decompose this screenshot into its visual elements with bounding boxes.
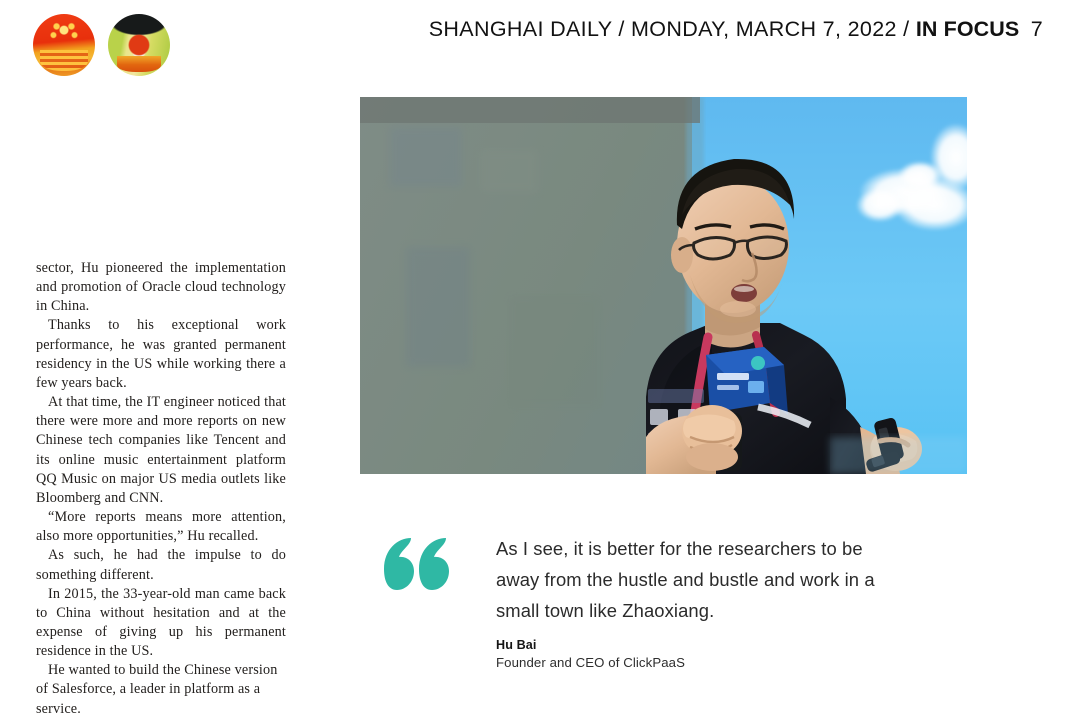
article-body-column: sector, Hu pioneered the implementation … [36, 259, 286, 719]
section-name: IN FOCUS [916, 17, 1020, 41]
cppcc-emblem-icon [108, 14, 170, 76]
masthead-separator-1: / [618, 17, 624, 41]
hand-holding-microphone [682, 405, 742, 471]
emblem-group [33, 14, 170, 76]
article-photo [360, 97, 967, 474]
publication-name: SHANGHAI DAILY [429, 17, 612, 41]
page-number: 7 [1031, 17, 1043, 41]
article-paragraph: As such, he had the impulse to do someth… [36, 546, 286, 584]
article-paragraph: He wanted to build the Chinese version o… [36, 661, 286, 718]
article-paragraph: Thanks to his exceptional work performan… [36, 316, 286, 393]
masthead-line: SHANGHAI DAILY / MONDAY, MARCH 7, 2022 /… [429, 17, 1043, 42]
pull-quote-text: As I see, it is better for the researche… [496, 533, 906, 626]
article-paragraph: sector, Hu pioneered the implementation … [36, 259, 286, 316]
pull-quote-body: As I see, it is better for the researche… [496, 533, 978, 670]
quotation-mark-icon [378, 535, 450, 597]
pull-quote-attribution-role: Founder and CEO of ClickPaaS [496, 655, 978, 670]
article-paragraph: “More reports means more attention, also… [36, 508, 286, 546]
national-emblem-of-china-icon [33, 14, 95, 76]
pull-quote-attribution-name: Hu Bai [496, 638, 978, 652]
photo-illustration [360, 97, 967, 474]
masthead: SHANGHAI DAILY / MONDAY, MARCH 7, 2022 /… [0, 0, 1079, 92]
article-paragraph: At that time, the IT engineer noticed th… [36, 393, 286, 508]
issue-date: MONDAY, MARCH 7, 2022 [631, 17, 897, 41]
pull-quote-block: As I see, it is better for the researche… [378, 533, 978, 670]
masthead-separator-2: / [903, 17, 909, 41]
article-paragraph: In 2015, the 33-year-old man came back t… [36, 585, 286, 662]
